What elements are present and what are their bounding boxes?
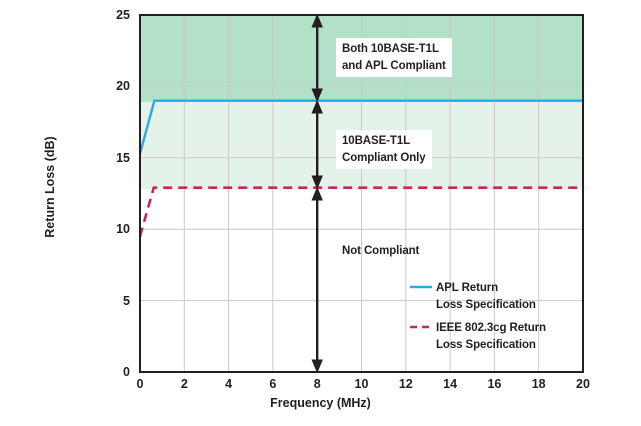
xtick-label-20: 20 <box>568 377 598 391</box>
return-loss-chart: Both 10BASE-T1L and APL Compliant 10BASE… <box>0 0 641 426</box>
annotation-both-compliant: Both 10BASE-T1L and APL Compliant <box>336 38 452 77</box>
legend-label-ieee: IEEE 802.3cg Return Loss Specification <box>436 320 546 353</box>
ytick-label-5: 5 <box>98 294 130 308</box>
xtick-label-16: 16 <box>479 377 509 391</box>
xtick-label-12: 12 <box>391 377 421 391</box>
xtick-label-18: 18 <box>524 377 554 391</box>
annotation-t1l-compliant-only: 10BASE-T1L Compliant Only <box>336 130 432 169</box>
annotation-not-compliant: Not Compliant <box>336 240 425 263</box>
ytick-label-20: 20 <box>98 79 130 93</box>
ytick-label-25: 25 <box>98 8 130 22</box>
chart-canvas <box>0 0 641 426</box>
xtick-label-8: 8 <box>302 377 332 391</box>
xtick-label-6: 6 <box>258 377 288 391</box>
x-axis-label: Frequency (MHz) <box>0 396 641 410</box>
ytick-label-15: 15 <box>98 151 130 165</box>
xtick-label-14: 14 <box>435 377 465 391</box>
xtick-label-4: 4 <box>214 377 244 391</box>
xtick-label-2: 2 <box>169 377 199 391</box>
ytick-label-10: 10 <box>98 222 130 236</box>
xtick-label-0: 0 <box>125 377 155 391</box>
y-axis-label: Return Loss (dB) <box>43 107 57 267</box>
legend-label-apl: APL Return Loss Specification <box>436 280 536 313</box>
xtick-label-10: 10 <box>347 377 377 391</box>
